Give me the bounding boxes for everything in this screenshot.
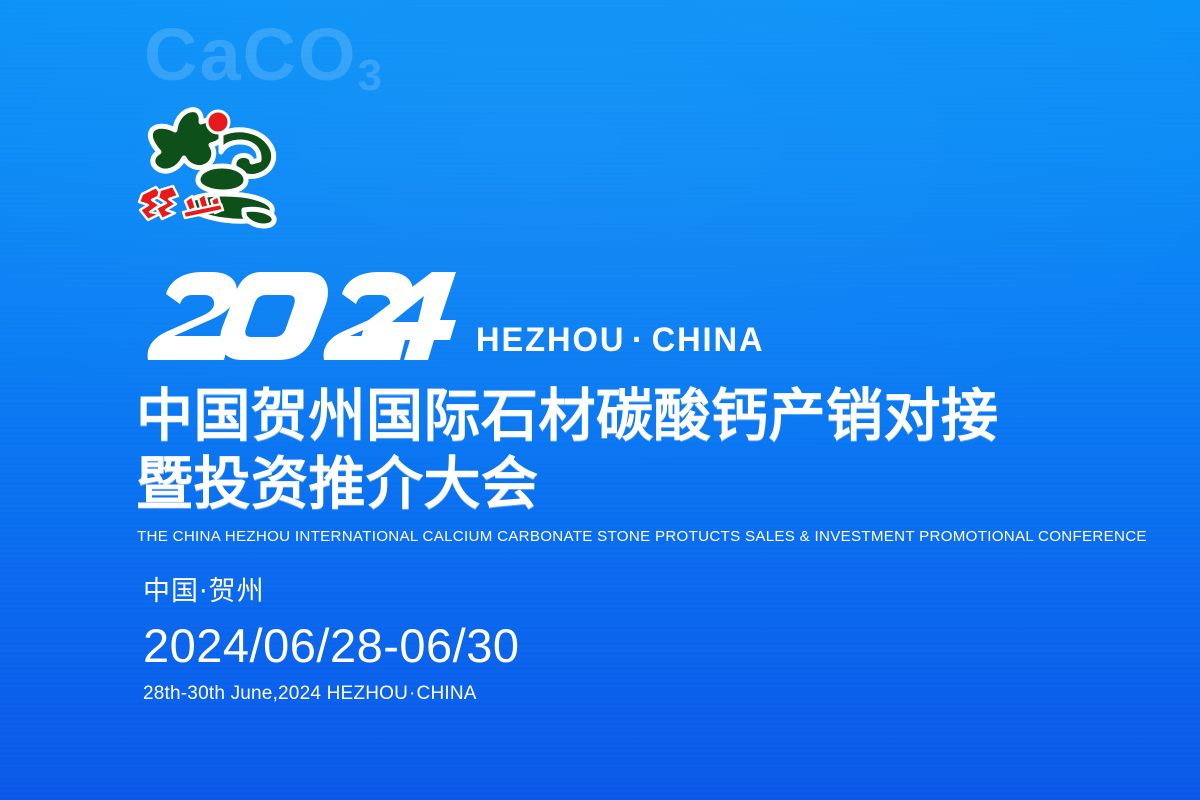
date-english-prefix: 28th-30th June,2024 HEZHOU	[143, 683, 408, 704]
logo-sun-dot	[207, 111, 229, 133]
date-english-suffix: CHINA	[417, 683, 477, 704]
hezhou-calligraphy-logo	[126, 86, 294, 238]
title-line-2: 暨投资推介大会	[136, 450, 999, 518]
year-2024-logotype	[146, 264, 458, 368]
title-line-1: 中国贺州国际石材碳酸钙产销对接	[136, 382, 999, 450]
year-city-label: HEZHOU·CHINA	[476, 323, 765, 357]
logo-svg	[126, 86, 294, 238]
year-city-china: CHINA	[652, 321, 765, 359]
date-english-separator: ·	[409, 683, 416, 704]
date-english: 28th-30th June,2024 HEZHOU·CHINA	[143, 684, 520, 703]
date-block: 中国·贺州 2024/06/28-06/30 28th-30th June,20…	[143, 578, 520, 703]
watermark-subscript: 3	[358, 51, 382, 100]
watermark-formula: CaCO	[144, 13, 358, 96]
page-title: 中国贺州国际石材碳酸钙产销对接 暨投资推介大会	[136, 382, 999, 518]
year-row: HEZHOU·CHINA	[146, 264, 777, 368]
conference-poster: CaCO3	[0, 0, 1200, 800]
year-city-separator: ·	[632, 321, 645, 359]
date-range: 2024/06/28-06/30	[143, 622, 520, 669]
caco3-watermark: CaCO3	[144, 18, 382, 92]
title-english-subtitle: THE CHINA HEZHOU INTERNATIONAL CALCIUM C…	[137, 528, 1147, 545]
year-city-hezhou: HEZHOU	[476, 321, 625, 359]
date-city-cn: 中国·贺州	[143, 578, 520, 605]
